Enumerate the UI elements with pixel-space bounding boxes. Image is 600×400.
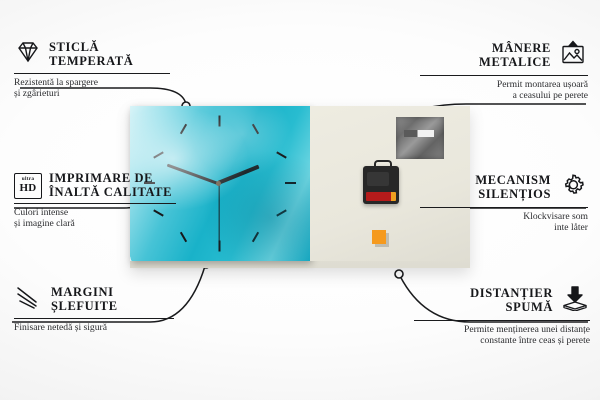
callout-divider	[414, 320, 590, 321]
mechanism-dial	[367, 172, 389, 186]
callout-header: MECANISM SILENȚIOS	[408, 172, 588, 203]
callout-header: ultra HD IMPRIMARE DE ÎNALTĂ CALITATE	[14, 172, 189, 199]
clock-center-hub	[216, 181, 221, 186]
press-down-pad-icon	[560, 285, 590, 316]
diagonal-lines-icon	[14, 285, 44, 314]
clock-tick	[180, 232, 187, 243]
hanger-slot	[404, 130, 434, 137]
callout-header: STICLĂ TEMPERATĂ	[14, 40, 184, 69]
clock-tick	[252, 232, 259, 243]
clock-tick	[153, 151, 164, 158]
callout-high-quality-print: ultra HD IMPRIMARE DE ÎNALTĂ CALITATE Cu…	[14, 172, 189, 229]
callout-divider	[14, 318, 174, 319]
gear-icon	[558, 172, 588, 203]
callout-polished-edges: MARGINI ȘLEFUITE Finisare netedă și sigu…	[14, 285, 189, 333]
callout-title: DISTANȚIER SPUMĂ	[470, 287, 553, 314]
callout-divider	[420, 75, 588, 76]
clock-tick	[219, 241, 221, 252]
foam-spacer-pad	[372, 230, 386, 244]
callout-title: MECANISM SILENȚIOS	[475, 174, 551, 201]
clock-second-hand	[218, 184, 219, 242]
metal-hanger-plate	[396, 117, 444, 159]
clock-tick	[276, 151, 287, 158]
clock-tick	[252, 124, 259, 135]
clock-mechanism-box	[363, 166, 399, 204]
callout-header: MÂNERE METALICE	[408, 40, 588, 71]
clock-tick	[180, 124, 187, 135]
ultra-hd-icon: ultra HD	[14, 173, 42, 199]
callout-foam-spacer: DISTANȚIER SPUMĂ Permite menținerea unei…	[404, 285, 590, 346]
callout-divider	[420, 207, 588, 208]
callout-title: MARGINI ȘLEFUITE	[51, 286, 118, 313]
callout-header: MARGINI ȘLEFUITE	[14, 285, 189, 314]
callout-title: IMPRIMARE DE ÎNALTĂ CALITATE	[49, 172, 172, 199]
diamond-icon	[14, 40, 42, 69]
callout-title: STICLĂ TEMPERATĂ	[49, 41, 133, 68]
callout-title: MÂNERE METALICE	[479, 42, 551, 69]
clock-tick	[276, 209, 287, 216]
callout-tempered-glass: STICLĂ TEMPERATĂ Rezistentă la spargere …	[14, 40, 184, 99]
mechanism-hook	[374, 160, 392, 171]
callout-metal-handles: MÂNERE METALICE Permit montarea ușoară a…	[408, 40, 588, 101]
clock-tick	[219, 116, 221, 127]
infographic-canvas: STICLĂ TEMPERATĂ Rezistentă la spargere …	[0, 0, 600, 400]
callout-divider	[14, 73, 170, 74]
connector-dot-spacer	[395, 270, 403, 278]
hanging-picture-icon	[558, 40, 588, 71]
callout-silent-mechanism: MECANISM SILENȚIOS Klockvisare som inte …	[408, 172, 588, 233]
callout-divider	[14, 203, 176, 204]
battery	[366, 192, 396, 201]
callout-header: DISTANȚIER SPUMĂ	[404, 285, 590, 316]
clock-hour-hand	[217, 165, 259, 185]
clock-tick	[285, 182, 296, 184]
